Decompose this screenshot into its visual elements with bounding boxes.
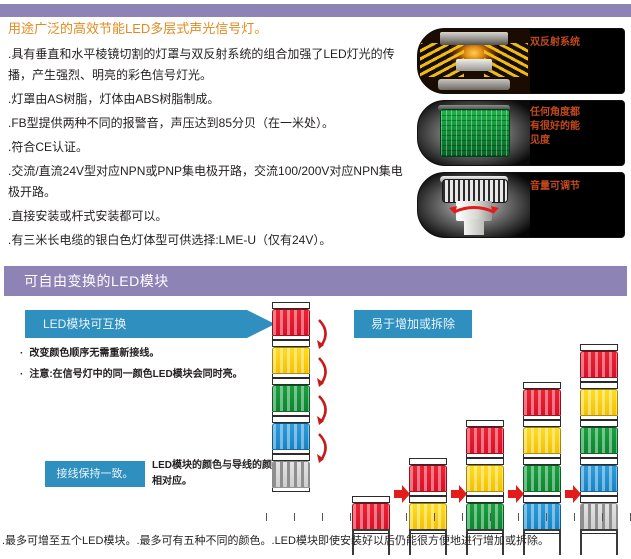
tick-mark xyxy=(294,513,295,521)
green-lens xyxy=(440,109,510,157)
led-lens-green xyxy=(272,385,310,412)
led-module-red xyxy=(409,458,447,496)
led-module-yellow xyxy=(523,420,561,458)
led-lens-red xyxy=(523,389,561,416)
tick-mark xyxy=(322,513,323,521)
photo-caption: 音量可调节 xyxy=(530,180,580,194)
feature-item: .灯罩由AS树脂，灯体由ABS树脂制成。 xyxy=(6,89,410,110)
features-list: 用途广泛的高效节能LED多层式声光信号灯。 .具有垂直和水平棱镜切割的灯罩与双反… xyxy=(6,20,410,254)
led-module-cap xyxy=(466,420,504,427)
add-remove-arrow-icon xyxy=(394,484,410,504)
tick-mark xyxy=(406,513,407,521)
tick-mark xyxy=(350,513,351,521)
led-module-red xyxy=(580,344,618,382)
banner-interchangeable-label: LED模块可互换 xyxy=(25,310,275,338)
tick-mark xyxy=(378,513,379,521)
led-module-yellow xyxy=(580,382,618,420)
knob-ridges xyxy=(442,179,508,203)
led-lens-green xyxy=(523,465,561,492)
tick-mark xyxy=(546,513,547,521)
led-module-cap xyxy=(580,496,618,503)
led-module-yellow xyxy=(272,340,310,378)
bullet-item: 注意:在信号灯中的同一颜色LED模块会同时亮。 xyxy=(20,367,280,382)
led-lens-yellow xyxy=(272,347,310,374)
feature-item: .符合CE认证。 xyxy=(6,137,410,158)
tick-marks xyxy=(266,513,630,521)
photo-green-dome: 任何角度都 有很好的能 见度 xyxy=(417,100,625,166)
led-module-cap xyxy=(580,382,618,389)
wiring-note: LED模块的颜色与导线的颜色相对应。 xyxy=(152,458,282,490)
reflector-base xyxy=(438,79,510,90)
led-module-red xyxy=(272,302,310,340)
led-module-cap xyxy=(523,496,561,503)
led-swap-stack xyxy=(272,302,342,502)
double-reflector-art xyxy=(418,29,530,93)
led-module-green xyxy=(580,420,618,458)
photo-panels: 双反射系统 任何角度都 有很好的能 见度 音量可调节 xyxy=(417,28,625,244)
led-module-cap xyxy=(352,496,390,503)
led-module-cap xyxy=(466,458,504,465)
photo-volume-knob: 音量可调节 xyxy=(417,172,625,238)
tick-mark xyxy=(518,513,519,521)
tick-mark xyxy=(490,513,491,521)
led-module-blue xyxy=(272,416,310,454)
led-module-cap xyxy=(272,454,310,461)
led-module-cap xyxy=(523,458,561,465)
led-module-gray xyxy=(272,454,310,492)
led-module-cap xyxy=(272,416,310,423)
led-module-blue xyxy=(580,458,618,496)
features-title: 用途广泛的高效节能LED多层式声光信号灯。 xyxy=(8,20,410,38)
led-lens-red xyxy=(466,427,504,454)
add-remove-arrow-icon xyxy=(451,484,467,504)
photo-caption: 任何角度都 有很好的能 见度 xyxy=(530,106,580,148)
product-page: 用途广泛的高效节能LED多层式声光信号灯。 .具有垂直和水平棱镜切割的灯罩与双反… xyxy=(0,0,631,559)
led-staircase xyxy=(348,300,631,530)
bullet-item: 改变颜色顺序无需重新接线。 xyxy=(20,346,280,361)
tick-mark xyxy=(434,513,435,521)
knob-stem xyxy=(464,219,484,235)
reflector-top xyxy=(440,32,508,45)
led-module-cap xyxy=(409,496,447,503)
photo-double-reflector: 双反射系统 xyxy=(417,28,625,94)
footer-note: .最多可增至五个LED模块。.最多可有五种不同的颜色。.LED模块即使安装好以后… xyxy=(2,533,630,549)
led-module-cap xyxy=(466,496,504,503)
reflector-mid xyxy=(456,59,492,71)
led-lens-red xyxy=(272,309,310,336)
swap-arrow-icon xyxy=(316,356,332,390)
bullet-list: 改变颜色顺序无需重新接线。 注意:在信号灯中的同一颜色LED模块会同时亮。 xyxy=(20,346,280,388)
led-module-cap xyxy=(409,458,447,465)
swap-arrow-icon xyxy=(316,432,332,466)
led-module-base xyxy=(272,488,310,492)
swap-arrow-icon xyxy=(316,318,332,352)
green-dome-art xyxy=(418,101,530,165)
led-module-cap xyxy=(272,378,310,385)
led-module-cap xyxy=(580,458,618,465)
led-lens-yellow xyxy=(466,465,504,492)
led-module-red xyxy=(466,420,504,458)
led-module-cap xyxy=(580,344,618,351)
feature-item: .交流/直流24V型对应NPN或PNP集电极开路，交流100/200V对应NPN… xyxy=(6,161,410,203)
volume-knob-art xyxy=(418,173,530,237)
feature-item: .直接安装或杆式安装都可以。 xyxy=(6,206,410,227)
swap-arrow-icon xyxy=(316,394,332,428)
tick-mark xyxy=(602,513,603,521)
led-lens-gray xyxy=(272,461,310,488)
led-lens-blue xyxy=(272,423,310,450)
led-module-red xyxy=(523,382,561,420)
wiring-badge-label: 接线保持一致。 xyxy=(45,461,145,487)
led-module-green xyxy=(272,378,310,416)
add-remove-arrow-icon xyxy=(508,484,524,504)
led-module-green xyxy=(523,458,561,496)
top-purple-bar xyxy=(0,4,631,17)
feature-item: .FB型提供两种不同的报警音，声压达到85分贝（在一米处）。 xyxy=(6,113,410,134)
tick-mark xyxy=(574,513,575,521)
led-lens-yellow xyxy=(580,389,618,416)
tick-mark xyxy=(266,513,267,521)
rotate-arrow-icon xyxy=(446,203,502,215)
led-module-cap xyxy=(523,382,561,389)
banner-interchangeable: LED模块可互换 xyxy=(25,310,275,338)
feature-item: .有三米长电缆的银白色灯体型可供选择:LME-U（仅有24V）。 xyxy=(6,230,410,251)
photo-caption: 双反射系统 xyxy=(530,36,580,50)
led-lens-green xyxy=(580,427,618,454)
led-lens-yellow xyxy=(523,427,561,454)
led-lens-blue xyxy=(580,465,618,492)
wiring-badge: 接线保持一致。 xyxy=(45,461,145,487)
led-module-cap xyxy=(272,302,310,309)
led-lens-red xyxy=(580,351,618,378)
led-module-cap xyxy=(580,420,618,427)
led-module-cap xyxy=(272,340,310,347)
led-module-cap xyxy=(523,420,561,427)
section-header: 可自由变换的LED模块 xyxy=(4,266,627,296)
tick-mark xyxy=(462,513,463,521)
section-header-label: 可自由变换的LED模块 xyxy=(4,266,627,296)
led-module-yellow xyxy=(466,458,504,496)
feature-item: .具有垂直和水平棱镜切割的灯罩与双反射系统的组合加强了LED灯光的传播，产生强烈… xyxy=(6,44,410,86)
add-remove-arrow-icon xyxy=(565,484,581,504)
led-lens-red xyxy=(409,465,447,492)
